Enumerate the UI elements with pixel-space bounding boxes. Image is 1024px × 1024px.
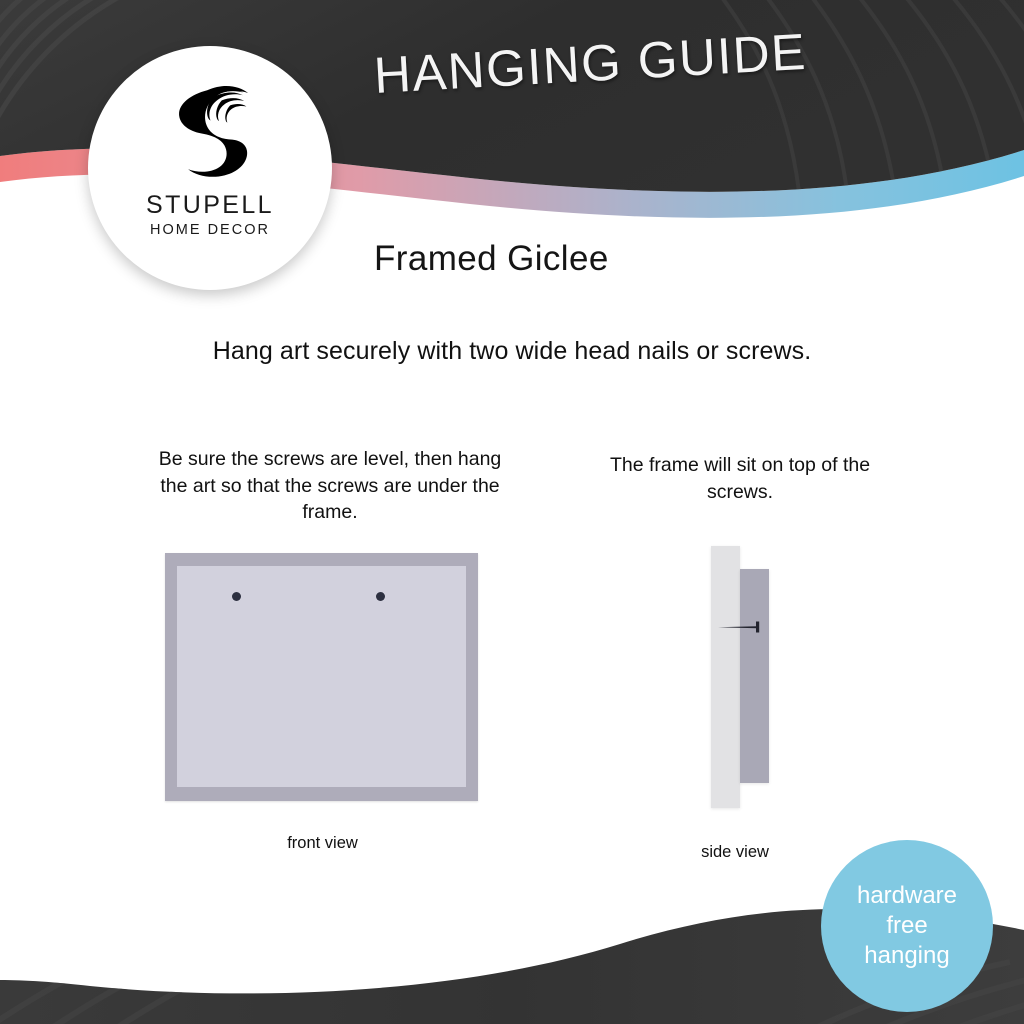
front-view-mat bbox=[177, 566, 466, 787]
side-view-caption: The frame will sit on top of the screws. bbox=[590, 452, 890, 505]
front-view-label: front view bbox=[180, 834, 465, 853]
side-view-label: side view bbox=[620, 843, 850, 862]
front-view-diagram bbox=[165, 553, 478, 801]
front-view-caption: Be sure the screws are level, then hang … bbox=[150, 446, 510, 526]
hardware-free-hanging-badge: hardware free hanging bbox=[821, 840, 993, 1012]
screw-dot-right bbox=[376, 592, 385, 601]
logo-badge: STUPELL HOME DECOR bbox=[88, 46, 332, 290]
hanging-guide-page: STUPELL HOME DECOR HANGING GUIDE Framed … bbox=[0, 0, 1024, 1024]
side-view-diagram bbox=[705, 540, 785, 815]
page-title: HANGING GUIDE bbox=[372, 22, 808, 105]
hardware-badge-line-3: hanging bbox=[864, 941, 949, 971]
product-type-heading: Framed Giclee bbox=[374, 239, 609, 279]
hardware-badge-line-1: hardware bbox=[857, 881, 957, 911]
logo-subtitle: HOME DECOR bbox=[150, 222, 270, 238]
lede-text: Hang art securely with two wide head nai… bbox=[0, 337, 1024, 366]
side-view-frame bbox=[740, 569, 769, 783]
logo-name: STUPELL bbox=[146, 192, 274, 218]
side-view-wall bbox=[711, 546, 740, 808]
nail-icon bbox=[716, 621, 764, 633]
stupell-s-swoosh-icon bbox=[154, 74, 266, 186]
hardware-badge-line-2: free bbox=[886, 911, 927, 941]
screw-dot-left bbox=[232, 592, 241, 601]
